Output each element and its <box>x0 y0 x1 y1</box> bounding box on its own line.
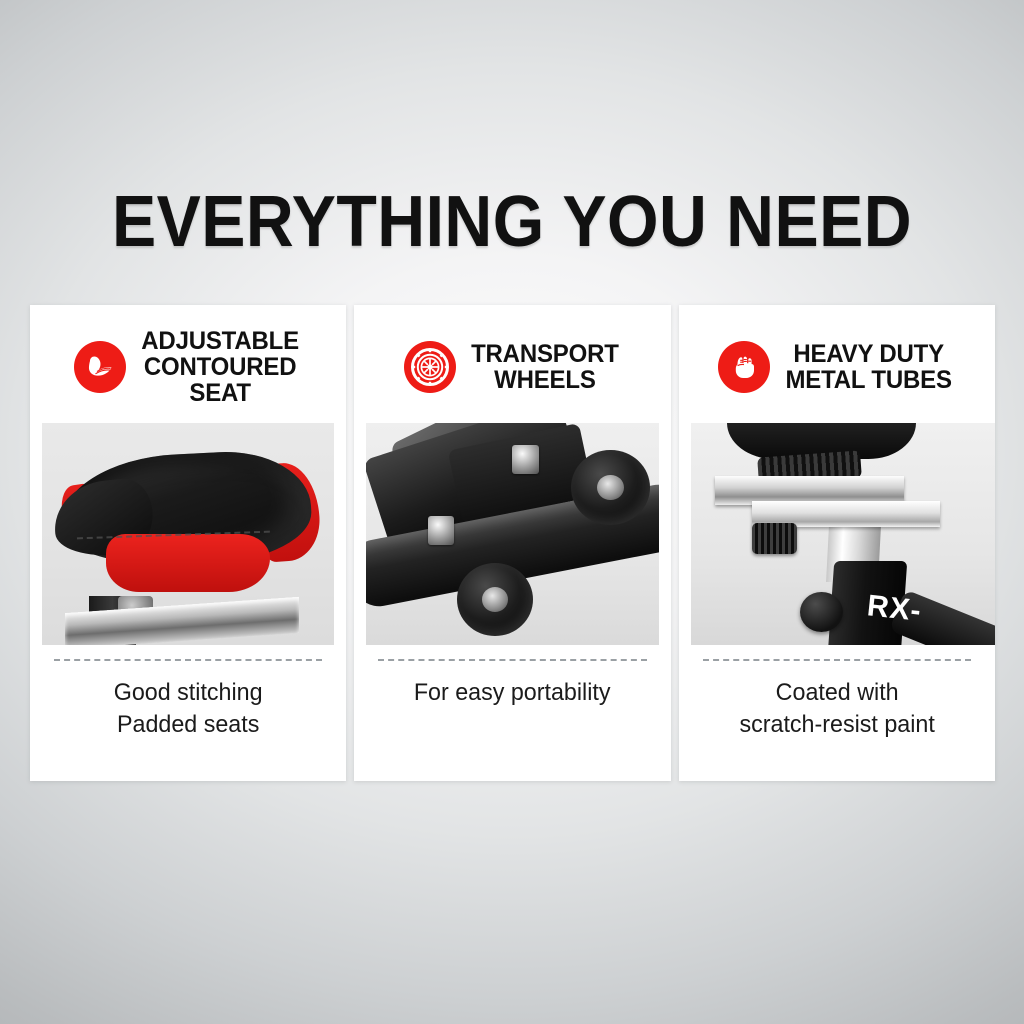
card-caption: Good stitching Padded seats <box>35 661 342 740</box>
card-caption: Coated with scratch-resist paint <box>683 661 990 740</box>
card-title: ADJUSTABLE CONTOURED SEAT <box>141 328 299 406</box>
card-title-line: HEAVY DUTY <box>794 340 945 368</box>
card-title-line: ADJUSTABLE <box>141 327 299 355</box>
caption-line: scratch-resist paint <box>699 709 975 741</box>
card-header: ADJUSTABLE CONTOURED SEAT <box>30 305 346 423</box>
card-title: TRANSPORT WHEELS <box>471 341 619 393</box>
card-header: TRANSPORT WHEELS <box>354 305 670 423</box>
card-title-line: SEAT <box>189 379 250 407</box>
product-photo-seat <box>42 423 334 645</box>
card-title-line: TRANSPORT <box>471 340 619 368</box>
tube-brand-label: RX- <box>866 589 924 629</box>
caption-line: Good stitching <box>50 677 326 709</box>
product-photo-wheels <box>366 423 658 645</box>
caption-line: For easy portability <box>375 677 651 709</box>
fist-icon <box>718 341 770 393</box>
feature-card-adjustable-seat: ADJUSTABLE CONTOURED SEAT <box>30 305 346 781</box>
caption-line: Padded seats <box>50 709 326 741</box>
card-caption: For easy portability <box>359 661 666 709</box>
feature-cards-row: ADJUSTABLE CONTOURED SEAT <box>30 305 995 781</box>
page-title: EVERYTHING YOU NEED <box>41 186 983 258</box>
product-photo-metal-tubes: RX- <box>691 423 995 645</box>
wheel-icon <box>404 341 456 393</box>
card-title-line: CONTOURED <box>144 353 297 381</box>
card-title: HEAVY DUTY METAL TUBES <box>786 341 952 393</box>
feature-card-metal-tubes: HEAVY DUTY METAL TUBES RX- <box>679 305 995 781</box>
caption-line: Coated with <box>699 677 975 709</box>
card-title-line: METAL TUBES <box>786 366 952 394</box>
page-root: EVERYTHING YOU NEED ADJUSTABLE CONTOURED… <box>0 0 1024 1024</box>
card-header: HEAVY DUTY METAL TUBES <box>679 305 995 423</box>
bike-seat-icon <box>74 341 126 393</box>
card-title-line: WHEELS <box>494 366 596 394</box>
feature-card-transport-wheels: TRANSPORT WHEELS Fo <box>354 305 670 781</box>
